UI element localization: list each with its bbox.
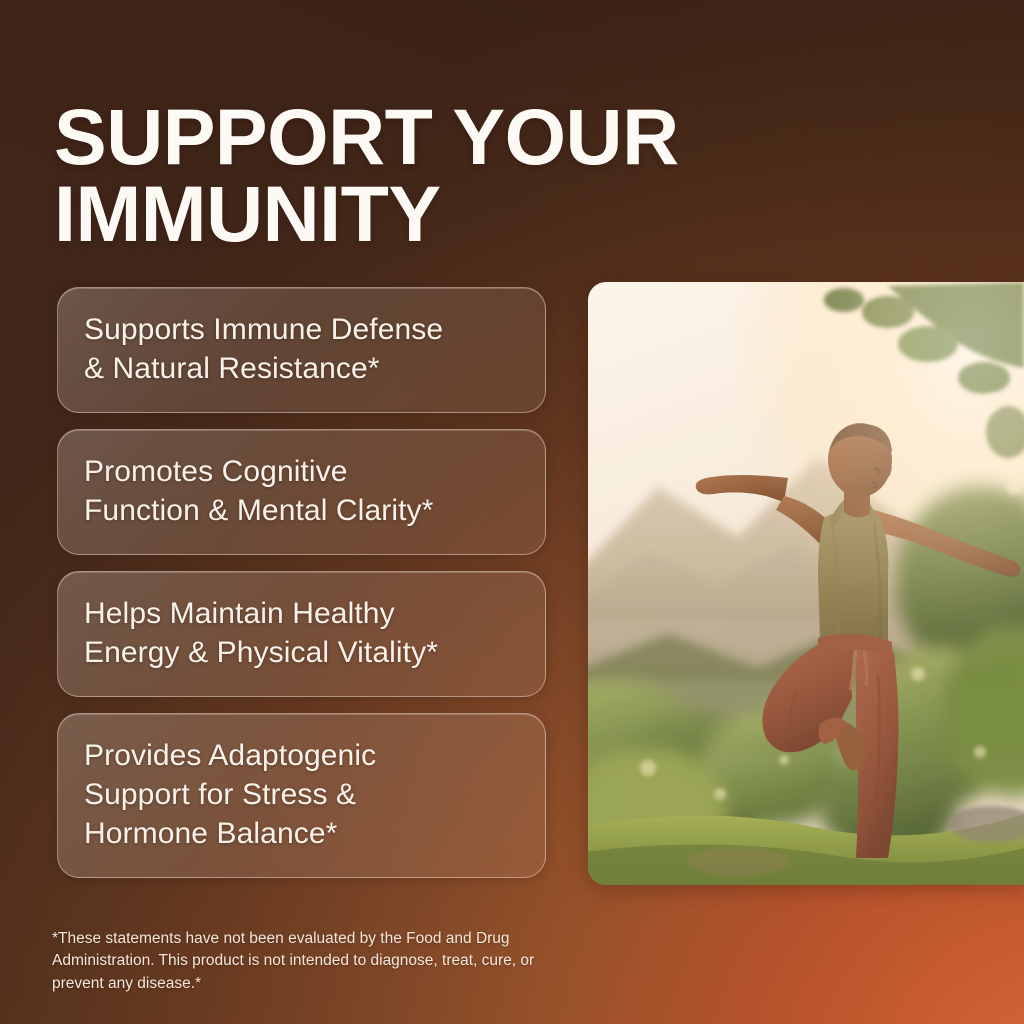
benefit-card-1: Supports Immune Defense & Natural Resist…	[57, 287, 546, 413]
benefit-label-3: Helps Maintain Healthy Energy & Physical…	[84, 594, 519, 672]
benefit-label-2: Promotes Cognitive Function & Mental Cla…	[84, 452, 519, 530]
benefit-label-4: Provides Adaptogenic Support for Stress …	[84, 736, 519, 853]
benefit-card-2: Promotes Cognitive Function & Mental Cla…	[57, 429, 546, 555]
yoga-sunrise-illustration	[588, 282, 1024, 885]
headline-line-2: Immunity	[54, 176, 834, 253]
lifestyle-photo	[588, 282, 1024, 885]
benefit-card-3: Helps Maintain Healthy Energy & Physical…	[57, 571, 546, 697]
page-title: Support Your Immunity	[54, 99, 834, 252]
immunity-promo-graphic: Support Your Immunity Supports Immune De…	[0, 0, 1024, 1024]
fda-disclaimer: *These statements have not been evaluate…	[52, 928, 572, 996]
benefit-card-4: Provides Adaptogenic Support for Stress …	[57, 713, 546, 878]
headline-line-1: Support Your	[54, 99, 834, 176]
benefits-list: Supports Immune Defense & Natural Resist…	[57, 287, 546, 894]
benefit-label-1: Supports Immune Defense & Natural Resist…	[84, 310, 519, 388]
